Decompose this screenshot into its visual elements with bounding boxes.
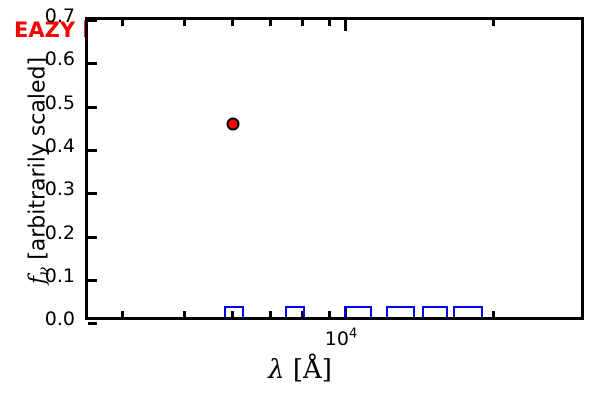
x-axis-title: λ [Å] bbox=[0, 355, 600, 385]
x-minor-tick-6 bbox=[492, 311, 495, 317]
x-top-tick-2 bbox=[231, 20, 234, 26]
y-tick-5 bbox=[88, 106, 97, 109]
y-tick-4 bbox=[88, 149, 97, 152]
filter-bandpass-box-2 bbox=[344, 306, 372, 317]
filter-bandpass-box-4 bbox=[422, 306, 448, 317]
y-tick-7 bbox=[88, 19, 97, 22]
x-axis-title-symbol: λ bbox=[268, 355, 284, 385]
filter-bandpass-box-3 bbox=[386, 306, 415, 317]
y-tick-6 bbox=[88, 62, 97, 65]
y-axis-title-f: f bbox=[26, 276, 51, 284]
x-axis-title-unit: [Å] bbox=[285, 355, 332, 385]
y-axis-title-symbol: fν bbox=[26, 267, 51, 284]
y-tick-0 bbox=[88, 322, 97, 325]
x-tick-label-mantissa: 10 bbox=[325, 328, 349, 350]
filter-bandpass-box-0 bbox=[224, 306, 244, 317]
x-minor-tick-3 bbox=[269, 311, 272, 317]
x-top-tick-1 bbox=[183, 20, 186, 26]
y-axis-title: fν [arbitrarily scaled] bbox=[26, 6, 51, 336]
photometry-data-point bbox=[227, 118, 240, 131]
x-top-tick-7 bbox=[492, 20, 495, 26]
x-minor-tick-0 bbox=[121, 311, 124, 317]
y-tick-2 bbox=[88, 236, 97, 239]
y-tick-1 bbox=[88, 279, 97, 282]
x-top-tick-5 bbox=[328, 20, 331, 26]
y-axis-title-rest: [arbitrarily scaled] bbox=[26, 57, 51, 267]
x-tick-label-0: 104 bbox=[301, 328, 381, 350]
y-tick-3 bbox=[88, 192, 97, 195]
y-axis-title-nu: ν bbox=[35, 267, 53, 276]
figure-canvas: EAZY best-fit 0.00.10.20.30.40.50.60.7 1… bbox=[0, 0, 600, 400]
filter-bandpass-box-5 bbox=[453, 306, 483, 317]
x-minor-tick-1 bbox=[183, 311, 186, 317]
x-top-tick-6 bbox=[344, 20, 347, 31]
x-minor-tick-5 bbox=[328, 311, 331, 317]
filter-bandpass-box-1 bbox=[285, 306, 305, 317]
x-top-tick-3 bbox=[269, 20, 272, 26]
x-tick-label-exponent: 4 bbox=[349, 327, 357, 342]
x-top-tick-0 bbox=[121, 20, 124, 26]
plot-axes-frame bbox=[85, 17, 584, 320]
x-top-tick-4 bbox=[301, 20, 304, 26]
